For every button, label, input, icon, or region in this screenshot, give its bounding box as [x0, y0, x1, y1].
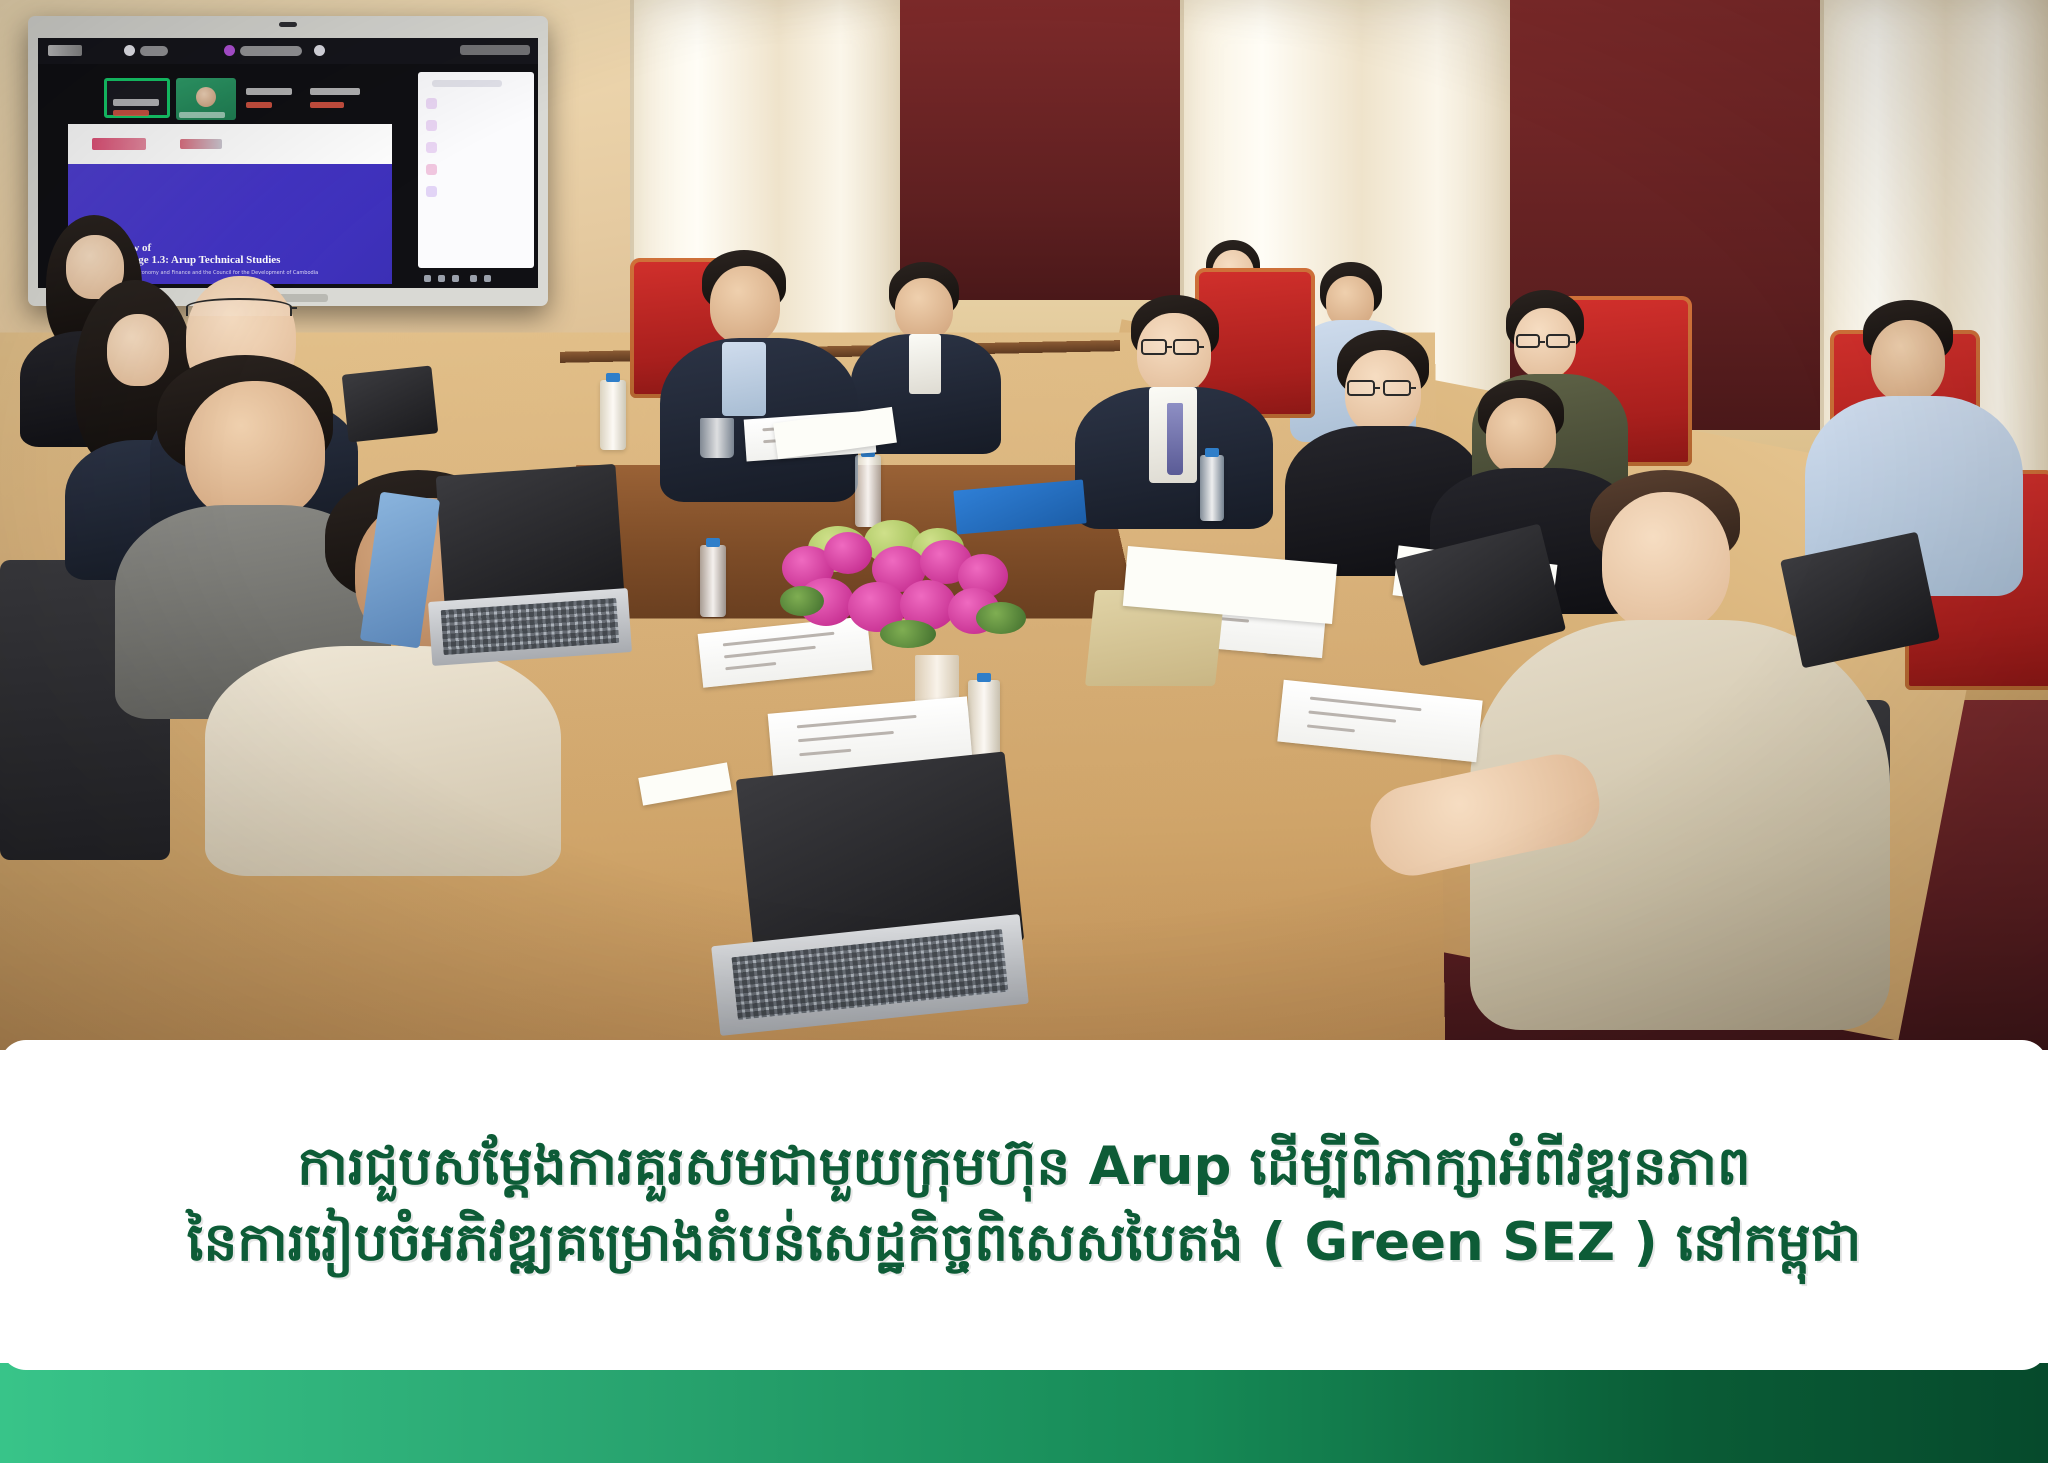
vc-tile-a-sub	[113, 110, 149, 116]
vc-tile-video[interactable]	[176, 78, 236, 120]
meeting-photo: Overview of FS Package 1.3: Arup Technic…	[0, 0, 2048, 1050]
water-bottle-2	[855, 455, 881, 527]
vc-toolbar-label-2	[240, 46, 302, 56]
vc-share-icon[interactable]	[452, 275, 459, 282]
laptop-left-lid[interactable]	[342, 365, 439, 442]
vc-meeting-time	[460, 45, 530, 55]
vc-tile-b-name	[179, 112, 225, 118]
slide-logo-right-icon	[180, 139, 222, 149]
vc-toolbar-label-1	[140, 46, 168, 56]
vc-tile-c-sub	[246, 102, 272, 108]
vc-participants-panel[interactable]	[418, 72, 534, 268]
mic-icon[interactable]	[124, 45, 135, 56]
vc-toolbar	[38, 38, 538, 64]
bottom-green-bar	[0, 1363, 2048, 1463]
vc-tile-c-name	[246, 88, 292, 95]
person-suit-glasses-tie	[1075, 295, 1275, 525]
vc-panel-item-5[interactable]	[426, 186, 437, 197]
vc-panel-item-1[interactable]	[426, 98, 437, 109]
person-dark-jacket-far-left	[660, 250, 860, 500]
drinking-glass-1	[700, 418, 734, 458]
vc-chat-icon[interactable]	[470, 275, 477, 282]
water-bottle-5	[700, 545, 726, 617]
more-options-icon[interactable]	[314, 45, 325, 56]
vc-tile-d-name	[310, 88, 360, 95]
caption-line-2: នៃការរៀបចំអភិវឌ្ឍគម្រោងតំបន់សេដ្ឋកិច្ចពិ…	[187, 1210, 1861, 1276]
slide-logo-left-icon	[92, 138, 146, 150]
vc-panel-item-4[interactable]	[426, 164, 437, 175]
water-bottle-1	[600, 380, 626, 450]
vc-panel-item-2[interactable]	[426, 120, 437, 131]
caption-line-1: ការជួបសម្តែងការគួរសមជាមួយក្រុមហ៊ុន Arup …	[297, 1134, 1750, 1200]
vc-leave-icon[interactable]	[484, 275, 491, 282]
caption-card: ការជួបសម្តែងការគួរសមជាមួយក្រុមហ៊ុន Arup …	[0, 1040, 2048, 1370]
wall-panel-center	[880, 0, 1190, 300]
vc-tile-a-name	[113, 99, 159, 106]
vc-panel-title	[432, 80, 502, 87]
laptop-2-lid[interactable]	[436, 464, 625, 606]
vc-control-bar[interactable]	[422, 272, 532, 284]
water-bottle-6	[1200, 455, 1224, 521]
vc-video-icon[interactable]	[438, 275, 445, 282]
screen-share-icon[interactable]	[224, 45, 235, 56]
flower-centerpiece	[780, 520, 1040, 650]
app-logo-icon	[48, 45, 82, 56]
vc-tile-active-speaker[interactable]	[104, 78, 170, 118]
poster-root: Overview of FS Package 1.3: Arup Technic…	[0, 0, 2048, 1463]
vc-mute-icon[interactable]	[424, 275, 431, 282]
camera-dot	[279, 22, 297, 27]
vc-tile-d-sub	[310, 102, 344, 108]
vc-avatar	[196, 87, 216, 107]
vc-panel-item-3[interactable]	[426, 142, 437, 153]
